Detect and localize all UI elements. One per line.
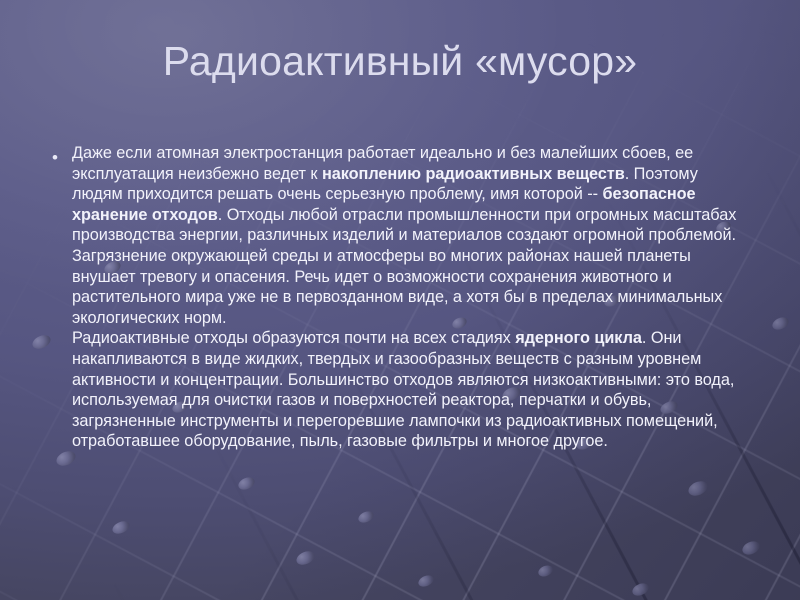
lattice-node-icon	[537, 563, 555, 578]
body-paragraph: Радиоактивные отходы образуются почти на…	[72, 328, 752, 452]
lattice-node-icon	[770, 315, 790, 332]
lattice-node-icon	[294, 549, 316, 568]
lattice-node-icon	[417, 573, 436, 589]
bullet-marker: •	[52, 149, 72, 166]
text-run: . Они накапливаются в виде жидких, тверд…	[72, 329, 734, 450]
emphasis-run: накоплению радиоактивных веществ	[322, 165, 625, 183]
lattice-node-icon	[30, 333, 52, 352]
slide-title: Радиоактивный «мусор»	[0, 38, 800, 85]
text-run: Радиоактивные отходы образуются почти на…	[72, 329, 515, 347]
lattice-node-icon	[686, 478, 710, 498]
lattice-node-icon	[740, 539, 761, 557]
body-text-content: Даже если атомная электростанция работае…	[72, 143, 752, 452]
lattice-node-icon	[236, 475, 256, 492]
body-paragraph: Даже если атомная электростанция работае…	[72, 143, 752, 328]
lattice-node-icon	[630, 581, 650, 598]
lattice-node-icon	[357, 509, 376, 525]
presentation-slide: Радиоактивный «мусор» • Даже если атомна…	[0, 0, 800, 600]
slide-body: • Даже если атомная электростанция работ…	[52, 143, 752, 452]
emphasis-run: ядерного цикла	[515, 329, 642, 347]
lattice-node-icon	[111, 519, 132, 536]
